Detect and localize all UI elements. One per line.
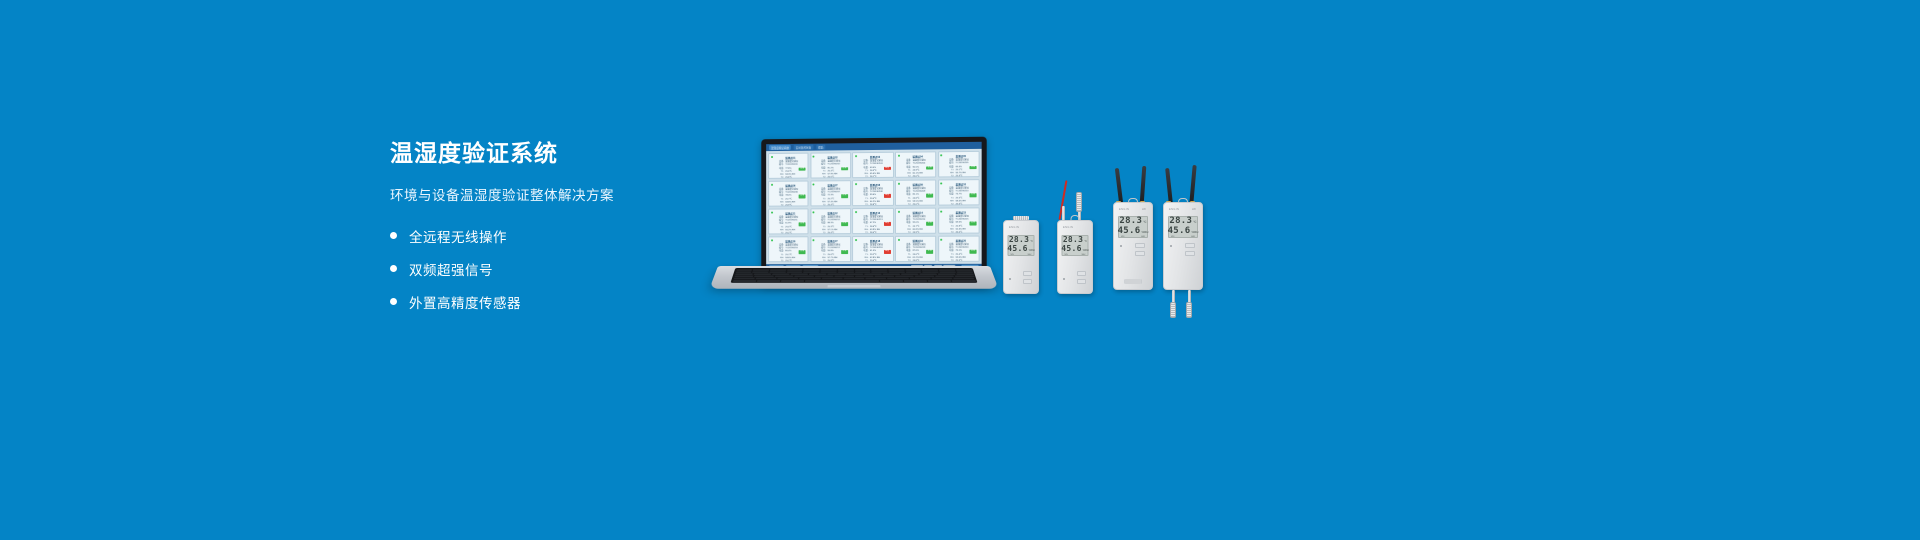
card-row-key: T2: xyxy=(902,232,911,234)
antenna-right-icon xyxy=(1140,166,1147,204)
card-row-value: 25.4℃ xyxy=(827,205,848,207)
device-brand-right: H8 xyxy=(1192,208,1196,211)
card-status-led-icon xyxy=(771,211,773,213)
card-row-key: T2: xyxy=(817,260,826,262)
card-row-value: 25.0℃ xyxy=(913,176,934,178)
card-status-led-icon xyxy=(771,239,773,241)
monitoring-card[interactable]: 监测点08设备:温湿度记录仪编号:TC20190208电量:39.6%报警T1:… xyxy=(852,180,893,207)
card-row: T2:25.2℃ xyxy=(775,233,806,235)
card-row-key: T2: xyxy=(775,205,784,207)
probe-head-icon xyxy=(1076,192,1082,212)
card-row: T2:25.8℃ xyxy=(775,177,806,179)
humidity-unit: %RH xyxy=(1141,230,1148,234)
card-status-led-icon xyxy=(940,182,942,184)
card-title: 监测点17 xyxy=(817,239,848,243)
page-subtitle: 环境与设备温湿度验证整体解决方案 xyxy=(390,184,730,204)
keyboard-key[interactable] xyxy=(781,280,804,282)
card-row-value: 29.0℃ xyxy=(870,260,891,262)
monitoring-card[interactable]: 监测点13设备:温湿度记录仪编号:TC20190213电量:47.2%报警T1:… xyxy=(852,208,893,235)
card-row-value: 25.5℃ xyxy=(956,260,977,262)
temperature-value: 28.3 xyxy=(1009,235,1029,244)
card-title: 监测点18 xyxy=(859,239,890,243)
device-button-down[interactable] xyxy=(1185,251,1195,256)
card-row-key: T2: xyxy=(945,260,954,262)
monitoring-card[interactable]: 监测点15设备:温湿度记录仪编号:TC20190215电量:69.5%正常T1:… xyxy=(938,207,980,234)
card-row-key: T2: xyxy=(859,204,868,206)
card-row-value: 28.1℃ xyxy=(870,176,891,178)
monitoring-card[interactable]: 监测点04设备:温湿度记录仪编号:TC20190204电量:90.5%正常T1:… xyxy=(895,151,936,178)
device-logger-b: ENGIN 28.3 ℃ 45.6 %RH MIN MAX xyxy=(1057,220,1093,294)
card-status-led-icon xyxy=(813,156,815,158)
card-row-value: 25.9℃ xyxy=(785,205,805,207)
status-led-icon xyxy=(1009,278,1011,280)
card-row-value: 24.8℃ xyxy=(913,260,934,262)
card-row-key: T2: xyxy=(902,204,911,206)
device-transmitter-d: ENGIN H8 28.3 ℃ 45.6 %RH MIN MAX xyxy=(1163,202,1203,290)
laptop-illustration: 温湿度验证系统 实时监控状态 帮助 监测点01设备:温湿度记录仪编号:TC201… xyxy=(718,138,990,298)
card-title: 监测点20 xyxy=(945,238,977,242)
card-status-led-icon xyxy=(940,238,942,240)
card-row-key: T2: xyxy=(945,176,954,178)
laptop-trackpad[interactable] xyxy=(826,284,881,288)
card-row: T2:25.9℃ xyxy=(775,205,806,207)
humidity-value: 45.6 xyxy=(1007,244,1027,253)
device-body: ENGIN H8 28.3 ℃ 45.6 %RH MIN MAX xyxy=(1163,202,1203,290)
card-row-value: 25.8℃ xyxy=(785,177,805,179)
device-button-up[interactable] xyxy=(1135,243,1145,248)
card-row: T2:29.0℃ xyxy=(859,260,890,262)
device-logger-a: ENGIN 28.3 ℃ 45.6 %RH MIN MAX xyxy=(1003,220,1039,294)
card-row: T2:28.8℃ xyxy=(859,204,890,206)
device-transmitter-c: ENGIN H8 28.3 ℃ 45.6 %RH MIN MAX xyxy=(1113,202,1153,290)
device-lcd: 28.3 ℃ 45.6 %RH MIN MAX xyxy=(1118,216,1148,238)
card-row-key: T2: xyxy=(775,177,784,179)
card-title: 监测点16 xyxy=(775,239,806,243)
card-title: 监测点10 xyxy=(945,182,977,186)
card-row-value: 25.8℃ xyxy=(827,260,848,262)
card-status-led-icon xyxy=(771,156,773,158)
monitoring-card[interactable]: 监测点19设备:温湿度记录仪编号:TC20190219电量:87.6%正常T1:… xyxy=(895,235,936,262)
card-row-key: T2: xyxy=(859,260,868,262)
card-row-value: 25.0℃ xyxy=(913,204,934,206)
keyboard-key[interactable] xyxy=(805,280,879,282)
keyboard-key[interactable] xyxy=(928,280,951,282)
status-led-icon xyxy=(1170,245,1172,247)
monitoring-card[interactable]: 监测点12设备:温湿度记录仪编号:TC20190212电量:88.3%正常T1:… xyxy=(810,208,851,234)
monitoring-card[interactable]: 监测点17设备:温湿度记录仪编号:TC20190217电量:55.8%正常T1:… xyxy=(810,236,851,262)
lcd-min-label: MIN xyxy=(1011,254,1014,256)
antenna-left-icon xyxy=(1115,168,1123,204)
card-status-led-icon xyxy=(813,239,815,241)
card-title: 监测点09 xyxy=(902,182,933,186)
card-title: 监测点07 xyxy=(817,183,848,187)
humidity-value: 45.6 xyxy=(1168,226,1191,236)
humidity-value: 45.6 xyxy=(1061,244,1081,253)
tab-realtime-status[interactable]: 实时监控状态 xyxy=(794,145,813,150)
device-button-up[interactable] xyxy=(1023,271,1032,276)
monitoring-card[interactable]: 监测点03设备:温湿度记录仪编号:TC20190203电量:43.0%报警T1:… xyxy=(852,152,893,179)
card-title: 监测点04 xyxy=(902,154,933,158)
keyboard-key[interactable] xyxy=(732,280,756,282)
laptop-keyboard[interactable] xyxy=(730,268,977,283)
card-status-led-icon xyxy=(855,239,857,241)
laptop-base xyxy=(709,266,998,289)
card-row: T2:25.0℃ xyxy=(902,176,933,178)
device-brand-left: ENGIN xyxy=(1063,226,1073,229)
card-row-value: 25.2℃ xyxy=(785,260,805,262)
keyboard-key[interactable] xyxy=(880,280,903,282)
temperature-value: 28.3 xyxy=(1063,235,1083,244)
card-status-led-icon xyxy=(898,211,900,213)
temperature-unit: ℃ xyxy=(1143,220,1146,224)
device-brand-right: H8 xyxy=(1142,208,1146,211)
monitoring-card[interactable]: 监测点11设备:温湿度记录仪编号:TC20190211电量:61.9%正常T1:… xyxy=(768,208,809,234)
card-row: T2:25.5℃ xyxy=(945,260,977,262)
keyboard-row xyxy=(732,280,975,282)
device-brand-left: ENGIN xyxy=(1009,226,1019,229)
feature-label: 全远程无线操作 xyxy=(409,226,507,246)
card-row-key: T2: xyxy=(775,233,784,235)
list-item: 全远程无线操作 xyxy=(390,226,730,246)
list-item: 双频超强信号 xyxy=(390,259,730,279)
sensor-devices-group: ENGIN 28.3 ℃ 45.6 %RH MIN MAX xyxy=(995,180,1225,320)
monitoring-card[interactable]: 监测点16设备:温湿度记录仪编号:TC20190216电量:80.4%正常T1:… xyxy=(768,236,809,262)
card-title: 监测点02 xyxy=(817,155,848,159)
card-row-key: T2: xyxy=(945,232,954,234)
card-row-key: T2: xyxy=(817,177,826,179)
card-row-value: 25.3℃ xyxy=(956,176,977,178)
tab-monitoring[interactable]: 温湿度验证系统 xyxy=(769,145,791,150)
lcd-min-label: MIN xyxy=(1065,254,1068,256)
card-row: T2:25.2℃ xyxy=(775,260,806,262)
bullet-dot-icon xyxy=(390,265,397,272)
card-status-led-icon xyxy=(898,183,900,185)
page-title: 温湿度验证系统 xyxy=(390,140,730,168)
card-status-led-icon xyxy=(771,184,773,186)
card-status-led-icon xyxy=(855,211,857,213)
card-status-led-icon xyxy=(940,210,942,212)
temperature-unit: ℃ xyxy=(1084,240,1087,243)
laptop-lid: 温湿度验证系统 实时监控状态 帮助 监测点01设备:温湿度记录仪编号:TC201… xyxy=(761,137,986,286)
keyboard-key[interactable] xyxy=(757,280,780,282)
hero-text-block: 温湿度验证系统 环境与设备温湿度验证整体解决方案 全远程无线操作 双频超强信号 … xyxy=(390,140,730,325)
monitoring-card[interactable]: 监测点10设备:温湿度记录仪编号:TC20190210电量:74.7%正常T1:… xyxy=(938,179,980,206)
keyboard-key[interactable] xyxy=(952,280,976,282)
card-row: T2:25.4℃ xyxy=(817,205,848,207)
probe-head-right-icon xyxy=(1186,302,1192,318)
card-row-key: T2: xyxy=(902,176,911,178)
device-button-down[interactable] xyxy=(1023,279,1032,284)
probe-head-left-icon xyxy=(1170,302,1176,318)
card-title: 监测点01 xyxy=(775,156,806,160)
card-row: T2:25.4℃ xyxy=(817,232,848,234)
temperature-unit: ℃ xyxy=(1030,240,1033,243)
monitoring-card[interactable]: 监测点02设备:温湿度记录仪编号:TC20190202电量:81.2%正常T1:… xyxy=(810,152,851,179)
card-row-value: 24.9℃ xyxy=(913,232,934,234)
card-title: 监测点14 xyxy=(902,210,933,214)
bullet-dot-icon xyxy=(390,232,397,239)
card-title: 监测点15 xyxy=(945,210,977,214)
lcd-max-label: MAX xyxy=(1141,236,1145,238)
card-row-key: T2: xyxy=(902,260,911,262)
keyboard-key[interactable] xyxy=(904,280,927,282)
monitoring-card[interactable]: 监测点05设备:温湿度记录仪编号:TC20190205电量:66.4%正常T1:… xyxy=(938,151,980,178)
card-status-led-icon xyxy=(855,155,857,157)
card-status-led-icon xyxy=(813,211,815,213)
device-button-down[interactable] xyxy=(1135,251,1145,256)
temperature-value: 28.3 xyxy=(1119,216,1142,226)
card-row-key: T2: xyxy=(817,232,826,234)
monitoring-card[interactable]: 监测点20设备:温湿度记录仪编号:TC20190220电量:76.1%正常T1:… xyxy=(938,235,980,262)
card-row: T2:24.8℃ xyxy=(902,260,933,262)
monitoring-card[interactable]: 监测点18设备:温湿度记录仪编号:TC20190218电量:41.5%报警T1:… xyxy=(852,236,893,262)
card-row: T2:28.4℃ xyxy=(859,232,890,234)
monitoring-card-grid: 监测点01设备:温湿度记录仪编号:TC20190201电量:77.8%正常T1:… xyxy=(766,149,981,264)
card-row-value: 25.6℃ xyxy=(956,204,977,206)
card-row-key: T2: xyxy=(775,260,784,262)
device-button-down[interactable] xyxy=(1077,279,1086,284)
device-lcd: 28.3 ℃ 45.6 %RH MIN MAX xyxy=(1168,216,1198,238)
monitoring-card[interactable]: 监测点01设备:温湿度记录仪编号:TC20190201电量:77.8%正常T1:… xyxy=(768,153,809,180)
device-body: ENGIN 28.3 ℃ 45.6 %RH MIN MAX xyxy=(1057,220,1093,294)
card-row-key: T2: xyxy=(859,177,868,179)
card-title: 监测点08 xyxy=(859,183,890,187)
device-button-up[interactable] xyxy=(1185,243,1195,248)
card-status-led-icon xyxy=(813,183,815,185)
lcd-max-label: MAX xyxy=(1028,254,1032,256)
card-title: 监测点12 xyxy=(817,211,848,215)
card-row: T2:25.6℃ xyxy=(945,204,977,206)
device-lcd: 28.3 ℃ 45.6 %RH MIN MAX xyxy=(1008,235,1035,256)
card-row-value: 25.2℃ xyxy=(785,233,805,235)
humidity-unit: %RH xyxy=(1029,249,1035,252)
device-body: ENGIN H8 28.3 ℃ 45.6 %RH MIN MAX xyxy=(1113,202,1153,290)
card-title: 监测点11 xyxy=(775,211,806,215)
card-status-led-icon xyxy=(940,154,942,156)
card-row: T2:24.9℃ xyxy=(902,232,933,234)
laptop-screen: 温湿度验证系统 实时监控状态 帮助 监测点01设备:温湿度记录仪编号:TC201… xyxy=(766,142,981,273)
device-lcd: 28.3 ℃ 45.6 %RH MIN MAX xyxy=(1062,235,1089,256)
feature-label: 双频超强信号 xyxy=(409,259,493,279)
card-row-key: T2: xyxy=(945,204,954,206)
tab-help[interactable]: 帮助 xyxy=(816,145,825,150)
monitoring-card[interactable]: 监测点06设备:温湿度记录仪编号:TC20190206电量:78.0%正常T1:… xyxy=(768,180,809,206)
card-status-led-icon xyxy=(855,183,857,185)
card-row-value: 25.5℃ xyxy=(827,177,848,179)
monitoring-card[interactable]: 监测点09设备:温湿度记录仪编号:TC20190209电量:85.1%正常T1:… xyxy=(895,179,936,206)
card-row: T2:25.8℃ xyxy=(817,260,848,262)
card-title: 监测点06 xyxy=(775,183,806,187)
feature-list: 全远程无线操作 双频超强信号 外置高精度传感器 xyxy=(390,226,730,312)
monitoring-card[interactable]: 监测点14设备:温湿度记录仪编号:TC20190214电量:92.0%正常T1:… xyxy=(895,207,936,234)
card-status-led-icon xyxy=(898,155,900,157)
lcd-min-label: MIN xyxy=(1121,236,1124,238)
card-row-value: 28.8℃ xyxy=(870,204,891,206)
status-led-icon xyxy=(1120,245,1122,247)
humidity-unit: %RH xyxy=(1083,249,1089,252)
device-button-up[interactable] xyxy=(1077,271,1086,276)
status-led-icon xyxy=(1063,278,1065,280)
card-row-value: 25.4℃ xyxy=(827,232,848,234)
card-title: 监测点19 xyxy=(902,238,933,242)
bullet-dot-icon xyxy=(390,298,397,305)
monitoring-card[interactable]: 监测点07设备:温湿度记录仪编号:TC20190207电量:72.3%正常T1:… xyxy=(810,180,851,207)
lcd-min-label: MIN xyxy=(1171,236,1174,238)
device-body: ENGIN 28.3 ℃ 45.6 %RH MIN MAX xyxy=(1003,220,1039,294)
humidity-unit: %RH xyxy=(1191,230,1198,234)
list-item: 外置高精度传感器 xyxy=(390,292,730,312)
card-title: 监测点13 xyxy=(859,211,890,215)
card-row-value: 26.0℃ xyxy=(956,232,977,234)
antenna-right-icon xyxy=(1189,165,1196,204)
card-row: T2:25.5℃ xyxy=(817,177,848,179)
card-status-led-icon xyxy=(898,239,900,241)
card-title: 监测点03 xyxy=(859,155,890,159)
card-row: T2:26.0℃ xyxy=(945,232,977,234)
card-row: T2:25.3℃ xyxy=(945,176,977,178)
device-brand-left: ENGIN xyxy=(1169,208,1179,211)
humidity-value: 45.6 xyxy=(1118,226,1141,236)
device-brand-left: ENGIN xyxy=(1119,208,1129,211)
card-row-key: T2: xyxy=(817,205,826,207)
card-row-value: 28.4℃ xyxy=(870,232,891,234)
sensor-grill-icon xyxy=(1125,279,1142,284)
card-row: T2:25.0℃ xyxy=(902,204,933,206)
card-row: T2:28.1℃ xyxy=(859,176,890,178)
lcd-max-label: MAX xyxy=(1191,236,1195,238)
temperature-unit: ℃ xyxy=(1193,220,1196,224)
feature-label: 外置高精度传感器 xyxy=(409,292,521,312)
card-title: 监测点05 xyxy=(945,154,977,158)
temperature-value: 28.3 xyxy=(1169,216,1192,226)
antenna-left-icon xyxy=(1165,168,1173,204)
card-row-key: T2: xyxy=(859,232,868,234)
lcd-max-label: MAX xyxy=(1082,254,1086,256)
